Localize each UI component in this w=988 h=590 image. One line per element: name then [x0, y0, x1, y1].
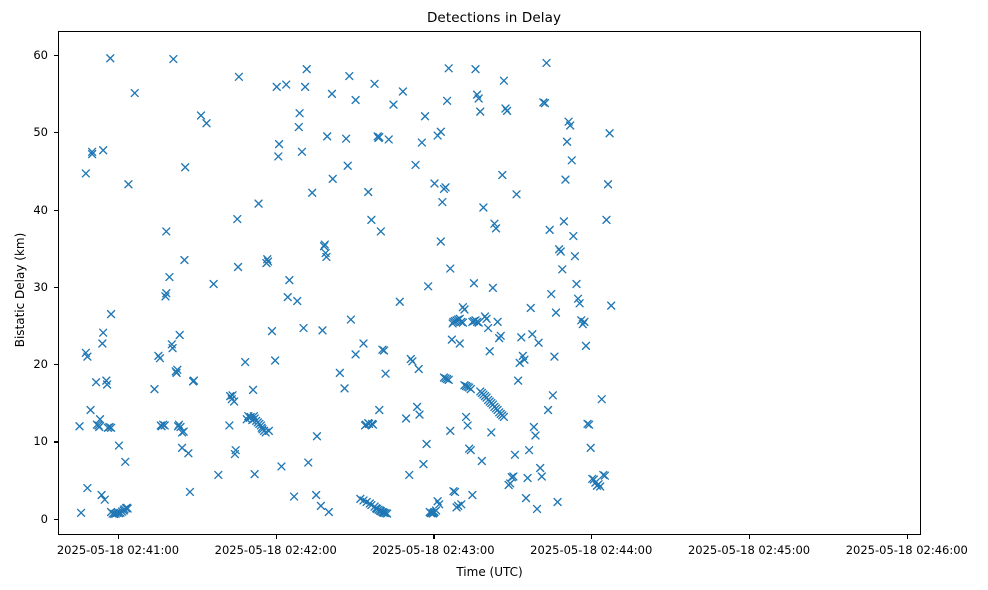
data-point	[461, 306, 468, 313]
scatter-points	[59, 32, 922, 536]
data-point	[437, 128, 444, 135]
data-point	[276, 141, 283, 148]
x-tick-label: 2025-05-18 02:43:00	[372, 543, 494, 557]
data-point	[131, 90, 138, 97]
data-point	[603, 216, 610, 223]
y-tick-label: 20	[33, 357, 48, 371]
data-point	[485, 325, 492, 332]
data-point	[122, 458, 129, 465]
data-point	[344, 162, 351, 169]
data-point	[559, 266, 566, 273]
data-point	[291, 493, 298, 500]
data-point	[445, 65, 452, 72]
data-point	[273, 83, 280, 90]
data-point	[176, 332, 183, 339]
x-tick-label: 2025-05-18 02:42:00	[215, 543, 337, 557]
data-point	[303, 66, 310, 73]
data-point	[203, 120, 210, 127]
x-tick-mark	[118, 535, 119, 539]
data-point	[313, 492, 320, 499]
data-point	[549, 392, 556, 399]
data-point	[499, 172, 506, 179]
data-point	[166, 274, 173, 281]
data-point	[87, 407, 94, 414]
data-point	[535, 339, 542, 346]
data-point	[268, 328, 275, 335]
data-point	[319, 327, 326, 334]
data-point	[478, 458, 485, 465]
data-point	[360, 340, 367, 347]
data-point	[463, 413, 470, 420]
x-tick-mark	[907, 535, 908, 539]
data-point	[382, 370, 389, 377]
data-point	[513, 191, 520, 198]
data-point	[181, 257, 188, 264]
data-point	[336, 369, 343, 376]
data-point	[385, 136, 392, 143]
data-point	[300, 325, 307, 332]
data-point	[78, 509, 85, 516]
data-point	[488, 429, 495, 436]
data-point	[99, 340, 106, 347]
data-point	[210, 281, 217, 288]
data-point	[100, 147, 107, 154]
data-point	[163, 228, 170, 235]
data-point	[448, 336, 455, 343]
data-point	[537, 464, 544, 471]
data-point	[564, 138, 571, 145]
data-point	[170, 56, 177, 63]
data-point	[551, 353, 558, 360]
data-point	[309, 189, 316, 196]
data-point	[530, 424, 537, 431]
data-point	[534, 505, 541, 512]
data-point	[278, 463, 285, 470]
data-point	[185, 450, 192, 457]
data-point	[573, 281, 580, 288]
x-tick-mark	[433, 535, 434, 539]
y-axis: Bistatic Delay (km) 0102030405060	[0, 31, 58, 535]
data-point	[456, 340, 463, 347]
data-point	[425, 283, 432, 290]
data-point	[545, 407, 552, 414]
data-point	[234, 216, 241, 223]
data-point	[606, 130, 613, 137]
data-point	[365, 189, 372, 196]
data-point	[409, 358, 416, 365]
data-point	[447, 265, 454, 272]
data-point	[605, 181, 612, 188]
data-point	[420, 461, 427, 468]
data-point	[480, 204, 487, 211]
y-tick-label: 50	[33, 125, 48, 139]
data-point	[347, 316, 354, 323]
data-point	[215, 471, 222, 478]
data-point	[527, 304, 534, 311]
data-point	[76, 423, 83, 430]
data-point	[415, 366, 422, 373]
data-point	[570, 233, 577, 240]
data-point	[582, 342, 589, 349]
data-point	[368, 216, 375, 223]
x-tick-mark	[591, 535, 592, 539]
data-point	[412, 161, 419, 168]
data-point	[497, 332, 504, 339]
data-point	[416, 411, 423, 418]
data-point	[231, 398, 238, 405]
y-tick-label: 60	[33, 48, 48, 62]
data-point	[552, 309, 559, 316]
data-point	[341, 385, 348, 392]
data-point	[504, 107, 511, 114]
data-point	[343, 135, 350, 142]
data-point	[377, 228, 384, 235]
data-point	[399, 88, 406, 95]
data-point	[587, 444, 594, 451]
x-tick-label: 2025-05-18 02:41:00	[57, 543, 179, 557]
data-point	[511, 451, 518, 458]
data-point	[571, 253, 578, 260]
data-point	[329, 175, 336, 182]
data-point	[101, 496, 108, 503]
data-point	[298, 148, 305, 155]
data-point	[115, 442, 122, 449]
data-point	[283, 81, 290, 88]
data-point	[554, 498, 561, 505]
data-point	[302, 83, 309, 90]
data-point	[151, 386, 158, 393]
data-point	[437, 238, 444, 245]
data-point	[538, 473, 545, 480]
data-point	[526, 447, 533, 454]
data-point	[376, 407, 383, 414]
data-point	[125, 181, 132, 188]
data-point	[305, 459, 312, 466]
data-point	[352, 97, 359, 104]
data-point	[557, 248, 564, 255]
data-point	[518, 334, 525, 341]
chart-figure: Detections in Delay Bistatic Delay (km) …	[0, 0, 988, 590]
data-point	[352, 351, 359, 358]
data-point	[235, 263, 242, 270]
data-point	[100, 329, 107, 336]
data-point	[431, 180, 438, 187]
data-point	[197, 112, 204, 119]
data-point	[226, 422, 233, 429]
data-point	[568, 157, 575, 164]
data-point	[296, 110, 303, 117]
y-axis-label: Bistatic Delay (km)	[13, 70, 27, 510]
data-point	[182, 164, 189, 171]
y-tick-label: 0	[41, 512, 48, 526]
data-point	[515, 377, 522, 384]
data-point	[390, 101, 397, 108]
data-point	[403, 415, 410, 422]
x-axis-label: Time (UTC)	[58, 565, 921, 579]
data-point	[235, 73, 242, 80]
y-tick-label: 40	[33, 203, 48, 217]
x-tick-mark	[276, 535, 277, 539]
data-point	[422, 113, 429, 120]
data-point	[324, 133, 331, 140]
data-point	[548, 291, 555, 298]
data-point	[107, 55, 114, 62]
data-point	[84, 485, 91, 492]
y-tick-label: 10	[33, 434, 48, 448]
data-point	[489, 284, 496, 291]
data-point	[328, 90, 335, 97]
data-point	[598, 396, 605, 403]
data-point	[295, 124, 302, 131]
data-point	[469, 492, 476, 499]
data-point	[439, 199, 446, 206]
data-point	[250, 386, 257, 393]
data-point	[470, 280, 477, 287]
data-point	[608, 302, 615, 309]
data-point	[464, 422, 471, 429]
data-point	[414, 403, 421, 410]
x-tick-mark	[749, 535, 750, 539]
data-point	[294, 298, 301, 305]
data-point	[423, 441, 430, 448]
data-point	[543, 59, 550, 66]
data-point	[500, 77, 507, 84]
plot-area	[58, 31, 921, 535]
data-point	[477, 108, 484, 115]
data-point	[82, 170, 89, 177]
data-point	[472, 66, 479, 73]
data-point	[447, 427, 454, 434]
data-point	[255, 200, 262, 207]
data-point	[346, 73, 353, 80]
data-point	[186, 488, 193, 495]
x-axis: Time (UTC) 2025-05-18 02:41:002025-05-18…	[58, 535, 921, 590]
data-point	[418, 139, 425, 146]
data-point	[251, 471, 258, 478]
data-point	[325, 509, 332, 516]
data-point	[108, 311, 115, 318]
data-point	[529, 331, 536, 338]
data-point	[93, 379, 100, 386]
data-point	[272, 357, 279, 364]
data-point	[532, 432, 539, 439]
data-point	[317, 502, 324, 509]
data-point	[284, 294, 291, 301]
data-point	[396, 298, 403, 305]
data-point	[313, 433, 320, 440]
x-tick-label: 2025-05-18 02:44:00	[530, 543, 652, 557]
data-point	[560, 218, 567, 225]
data-point	[286, 277, 293, 284]
y-tick-label: 30	[33, 280, 48, 294]
data-point	[98, 492, 105, 499]
x-tick-label: 2025-05-18 02:45:00	[688, 543, 810, 557]
data-point	[522, 495, 529, 502]
data-point	[242, 359, 249, 366]
data-point	[371, 80, 378, 87]
chart-title: Detections in Delay	[0, 10, 988, 26]
data-point	[546, 226, 553, 233]
data-point	[156, 355, 163, 362]
x-tick-label: 2025-05-18 02:46:00	[846, 543, 968, 557]
data-point	[486, 348, 493, 355]
data-point	[406, 471, 413, 478]
data-point	[275, 153, 282, 160]
data-point	[483, 315, 490, 322]
data-point	[444, 97, 451, 104]
data-point	[562, 176, 569, 183]
data-point	[494, 318, 501, 325]
data-point	[524, 475, 531, 482]
